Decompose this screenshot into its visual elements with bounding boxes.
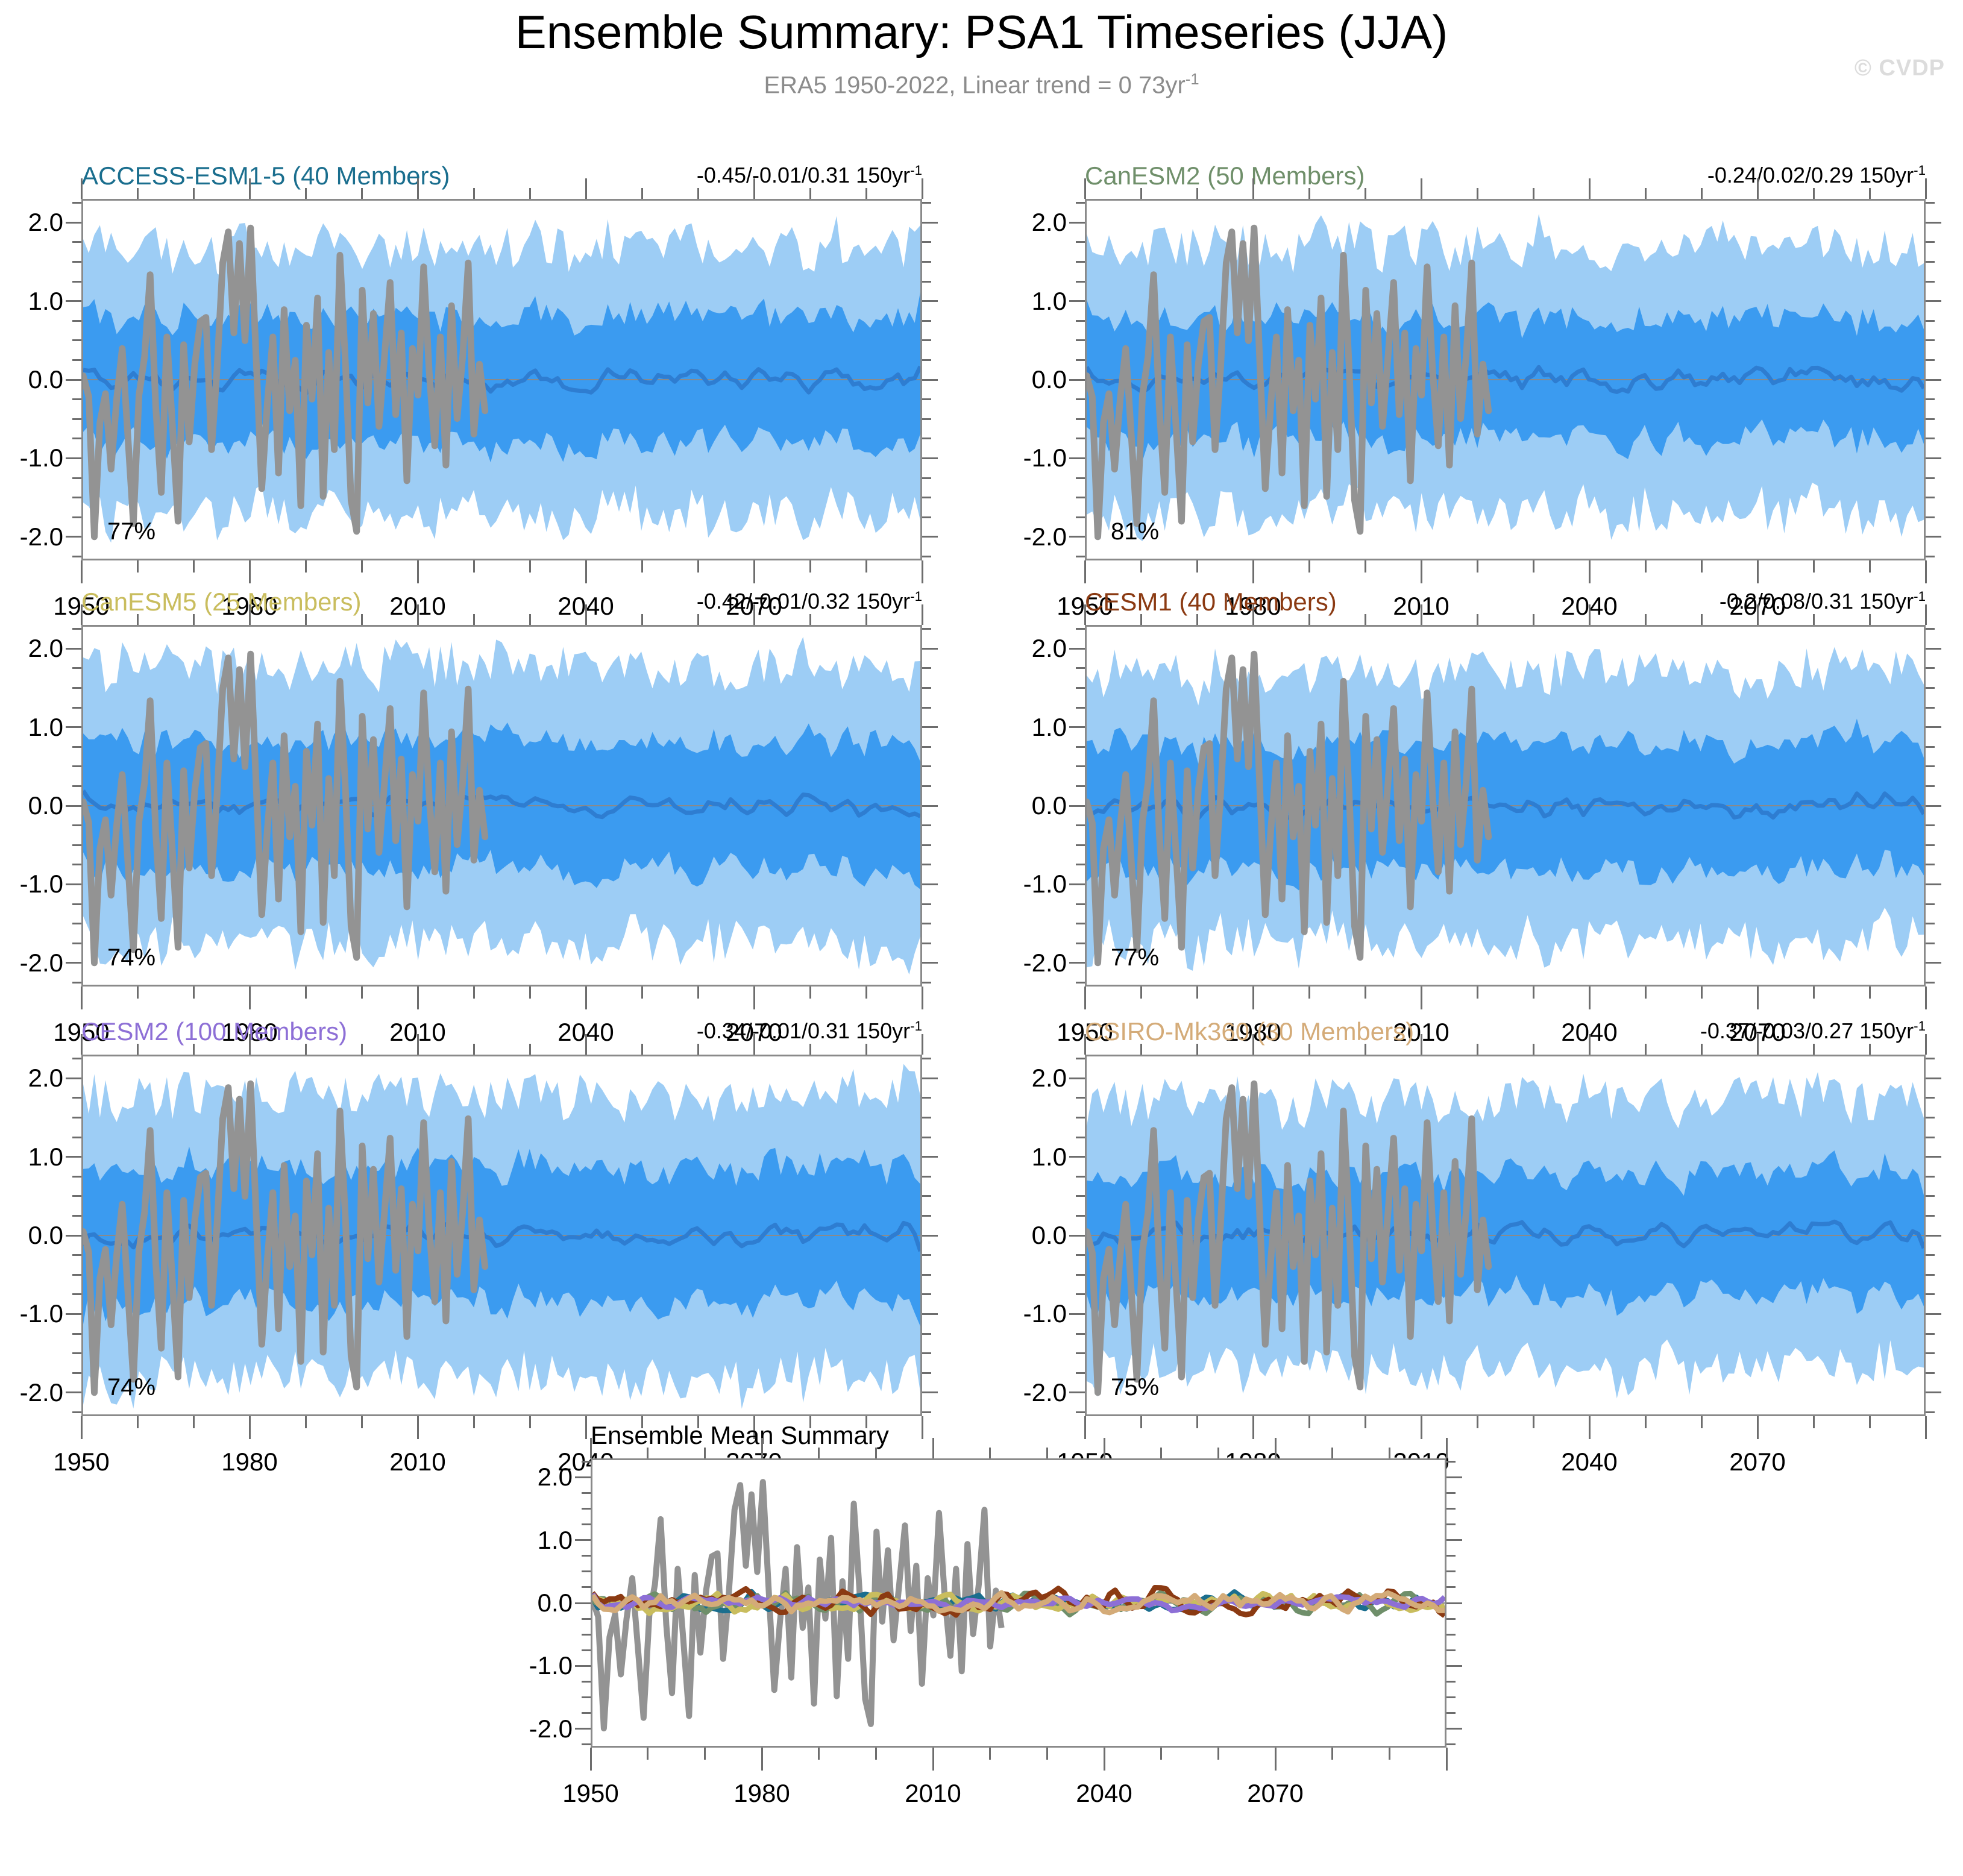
x-tick-top-major [585,604,587,625]
x-axis-label: 2010 [905,1779,961,1808]
x-tick-major [249,560,251,583]
x-tick-major [417,987,419,1009]
y-tick-minor [1076,824,1085,826]
y-tick-major-right [1926,648,1941,650]
y-tick-minor [1076,418,1085,420]
y-tick-minor [72,418,81,420]
x-tick-top-major [1446,1438,1448,1458]
panel-trend-stats-canesm2: -0.24/0.02/0.29 150yr-1 [1707,163,1926,188]
y-tick-major-right [1926,536,1941,538]
y-tick-minor [72,398,81,400]
x-tick-top-minor [809,1044,811,1055]
x-tick-top-major [1925,1034,1927,1055]
y-tick-minor [1076,1274,1085,1276]
y-axis-label: 0.0 [970,1221,1067,1250]
y-tick-minor-right [1446,1570,1456,1572]
axis-decor-access-esm1-5: 2.01.00.0-1.0-2.019501980201020402070 [81,199,922,560]
y-tick-minor-right [1446,1586,1456,1588]
x-tick-major [590,1748,592,1771]
y-tick-minor-right [1926,497,1935,498]
x-tick-major [585,1416,587,1439]
y-tick-major-right [1926,1313,1941,1315]
y-tick-major-right [1446,1665,1462,1667]
y-tick-minor [72,1333,81,1335]
x-tick-minor [1813,560,1815,573]
x-tick-minor [1140,1416,1142,1428]
y-tick-major-right [1446,1539,1462,1541]
x-tick-top-minor [1365,1044,1366,1055]
y-tick-minor [72,1195,81,1197]
y-tick-minor-right [1926,628,1935,630]
y-tick-major-right [1926,379,1941,381]
y-tick-minor [72,1176,81,1178]
y-tick-minor [1076,982,1085,983]
panel-header-canesm5: CanESM5 (25 Members)-0.42/-0.01/0.32 150… [81,588,922,619]
y-tick-major [1069,300,1085,302]
y-tick-major [1069,726,1085,728]
axis-decor-cesm2: 2.01.00.0-1.0-2.019501980201020402070 [81,1055,922,1416]
x-tick-top-minor [305,614,307,625]
panel-cesm1: CESM1 (40 Members)-0.2/0.08/0.31 150yr-1… [1085,588,1926,1021]
x-axis-label: 1980 [221,1448,277,1476]
panel-trend-stats-csiro-mk360: -0.37/-0.03/0.27 150yr-1 [1700,1018,1926,1044]
x-tick-top-minor [305,188,307,199]
x-tick-top-minor [193,1044,195,1055]
x-tick-minor [1160,1748,1162,1760]
y-tick-minor-right [1926,982,1935,983]
y-tick-minor [72,1254,81,1256]
x-tick-major [1084,987,1086,1009]
x-tick-minor [1533,987,1534,999]
y-tick-major-right [1446,1728,1462,1730]
x-tick-top-major [417,604,419,625]
y-axis-label: 0.0 [970,365,1067,394]
x-tick-top-major [922,178,923,199]
y-tick-minor [72,339,81,341]
y-tick-minor [72,438,81,439]
y-tick-major-right [1446,1476,1462,1478]
summary-panel-title: Ensemble Mean Summary [591,1421,889,1450]
y-tick-minor-right [922,1352,931,1354]
y-tick-minor [72,1293,81,1295]
y-tick-minor-right [922,746,931,748]
y-tick-minor [1076,1411,1085,1413]
x-tick-minor [529,987,531,999]
y-tick-minor [72,516,81,518]
x-tick-major [922,987,923,1009]
x-tick-minor [1308,987,1310,999]
y-tick-minor-right [922,707,931,709]
y-tick-minor-right [922,1274,931,1276]
x-tick-minor [1365,987,1366,999]
y-tick-major [1069,1313,1085,1315]
y-tick-major-right [922,1313,938,1315]
x-tick-major [585,987,587,1009]
x-tick-minor [1331,1748,1333,1760]
y-tick-minor [1076,1333,1085,1335]
x-tick-top-major [753,1034,755,1055]
y-tick-minor [1076,398,1085,400]
y-tick-minor [72,261,81,263]
y-tick-minor-right [922,497,931,498]
y-tick-minor [72,785,81,787]
y-tick-minor [582,1634,591,1636]
axis-decor-cesm1: 2.01.00.0-1.0-2.019501980201020402070 [1085,625,1926,987]
panel-trend-stats-access-esm1-5: -0.45/-0.01/0.31 150yr-1 [697,163,922,188]
y-tick-minor-right [922,556,931,557]
x-tick-top-major [585,1034,587,1055]
y-tick-major-right [922,805,938,807]
x-tick-minor [865,987,867,999]
page-subtitle: ERA5 1950-2022, Linear trend = 0 73yr-1 [0,71,1963,99]
y-tick-minor [72,477,81,479]
panel-trend-stats-canesm5: -0.42/-0.01/0.32 150yr-1 [697,589,922,614]
x-tick-top-minor [1533,614,1534,625]
x-tick-minor [1477,560,1478,573]
y-tick-minor-right [1926,320,1935,322]
y-tick-minor-right [1926,765,1935,767]
y-tick-minor-right [922,1195,931,1197]
y-tick-minor-right [1446,1696,1456,1698]
y-tick-minor [72,241,81,243]
x-tick-minor [1217,1748,1219,1760]
y-axis-label: -1.0 [970,870,1067,899]
y-tick-minor [1076,687,1085,689]
y-tick-minor-right [922,824,931,826]
y-tick-major [66,805,81,807]
y-tick-major [66,648,81,650]
y-axis-label: -2.0 [0,949,63,977]
y-tick-minor [1076,1058,1085,1059]
y-tick-minor-right [1926,1176,1935,1178]
obs-within-percent-cesm1: 77% [1111,944,1159,971]
y-tick-minor [1076,864,1085,865]
x-tick-top-minor [1869,1044,1871,1055]
x-axis-label: 2040 [1076,1779,1132,1808]
y-tick-minor-right [922,320,931,322]
y-axis-label: -2.0 [0,522,63,551]
y-tick-major-right [1926,1235,1941,1237]
y-axis-label: -2.0 [970,1378,1067,1407]
x-tick-top-minor [1196,614,1198,625]
x-tick-minor [1645,1416,1647,1428]
y-tick-minor [582,1696,591,1698]
x-axis-label: 2010 [389,1448,445,1476]
y-axis-label: 2.0 [970,1064,1067,1093]
y-axis-label: -2.0 [476,1714,573,1743]
x-tick-major [81,560,83,583]
y-tick-minor [1076,1372,1085,1374]
y-tick-minor-right [1446,1523,1456,1525]
y-tick-minor [1076,746,1085,748]
y-tick-minor-right [1926,1195,1935,1197]
x-tick-minor [361,987,363,999]
figure-root: Ensemble Summary: PSA1 Timeseries (JJA) … [0,0,1963,1876]
x-tick-major [753,560,755,583]
y-tick-major [575,1602,591,1604]
x-tick-minor [193,987,195,999]
x-tick-major [1252,1416,1254,1439]
axis-decor-summary: 2.01.00.0-1.0-2.019501980201020402070 [591,1458,1446,1748]
x-tick-top-major [932,1438,934,1458]
x-tick-minor [1477,987,1478,999]
panel-ensemble-mean-summary: Ensemble Mean Summary2.01.00.0-1.0-2.019… [591,1458,1446,1826]
x-tick-minor [1308,1416,1310,1428]
y-tick-minor [72,1117,81,1118]
x-tick-top-major [590,1438,592,1458]
x-tick-top-minor [1046,1448,1048,1458]
y-tick-minor-right [1446,1743,1456,1745]
y-tick-major-right [1926,300,1941,302]
x-tick-top-minor [875,1448,877,1458]
x-tick-top-minor [1196,188,1198,199]
panel-title-cesm1: CESM1 (40 Members) [1085,588,1337,616]
x-tick-top-major [417,178,419,199]
y-tick-minor [582,1681,591,1683]
x-tick-major [249,1416,251,1439]
x-tick-top-minor [1140,188,1142,199]
obs-within-percent-access-esm1-5: 77% [107,518,155,545]
x-tick-minor [1701,987,1703,999]
panel-csiro-mk360: CSIRO-Mk360 (30 Members)-0.37/-0.03/0.27… [1085,1017,1926,1451]
y-axis-label: 0.0 [0,365,63,394]
y-axis-label: 0.0 [970,791,1067,820]
y-tick-minor [1076,667,1085,669]
x-tick-top-major [81,178,83,199]
y-tick-minor [72,982,81,983]
x-tick-top-major [1589,178,1591,199]
y-tick-minor [1076,943,1085,944]
x-tick-minor [137,560,139,573]
x-tick-top-minor [1701,188,1703,199]
y-tick-minor-right [922,1215,931,1217]
x-tick-minor [989,1748,991,1760]
y-tick-minor-right [1446,1492,1456,1494]
x-tick-minor [305,560,307,573]
panel-title-canesm2: CanESM2 (50 Members) [1085,162,1365,190]
y-tick-minor [582,1492,591,1494]
y-tick-minor [72,1097,81,1099]
y-tick-minor-right [922,516,931,518]
y-tick-major-right [922,536,938,538]
y-tick-minor-right [1926,1274,1935,1276]
y-tick-major [66,222,81,224]
x-tick-major [761,1748,763,1771]
y-tick-minor [72,1372,81,1374]
y-tick-minor [1076,1117,1085,1118]
y-tick-major [66,457,81,459]
x-tick-minor [1140,560,1142,573]
x-axis-label: 1950 [562,1779,618,1808]
y-tick-major-right [1926,1156,1941,1158]
y-tick-minor-right [1446,1634,1456,1636]
y-tick-major [66,1235,81,1237]
y-tick-major [1069,379,1085,381]
y-tick-minor-right [1926,824,1935,826]
x-tick-top-major [761,1438,763,1458]
panel-header-csiro-mk360: CSIRO-Mk360 (30 Members)-0.37/-0.03/0.27… [1085,1017,1926,1049]
x-tick-top-minor [865,1044,867,1055]
x-tick-top-minor [1217,1448,1219,1458]
y-tick-minor-right [922,281,931,283]
y-tick-minor [1076,923,1085,924]
x-tick-top-major [1275,1438,1277,1458]
y-tick-minor-right [922,943,931,944]
y-tick-minor-right [1926,1058,1935,1059]
y-axis-label: 1.0 [0,1143,63,1172]
x-tick-top-major [585,178,587,199]
y-axis-label: -2.0 [970,949,1067,977]
y-tick-minor-right [1926,923,1935,924]
y-tick-minor-right [1926,707,1935,709]
y-tick-minor [1076,261,1085,263]
y-tick-minor-right [922,1058,931,1059]
y-tick-minor-right [1926,687,1935,689]
y-tick-minor-right [1926,556,1935,557]
y-tick-minor-right [922,687,931,689]
x-tick-major [81,987,83,1009]
panel-title-csiro-mk360: CSIRO-Mk360 (30 Members) [1085,1017,1414,1046]
y-tick-minor [1076,339,1085,341]
y-tick-minor [72,1352,81,1354]
x-tick-minor [1196,987,1198,999]
y-tick-minor [1076,438,1085,439]
y-tick-major-right [922,883,938,885]
y-tick-major-right [922,648,938,650]
y-tick-minor [72,202,81,204]
y-tick-major [1069,648,1085,650]
x-tick-top-minor [1869,188,1871,199]
x-tick-top-major [922,604,923,625]
x-tick-major [417,560,419,583]
x-tick-major [1275,1748,1277,1771]
x-tick-minor [1533,1416,1534,1428]
y-tick-minor [72,746,81,748]
y-tick-major-right [1446,1602,1462,1604]
y-tick-major-right [1926,883,1941,885]
x-tick-minor [473,1416,475,1428]
x-tick-minor [1869,1416,1871,1428]
x-tick-minor [305,987,307,999]
y-axis-label: 1.0 [0,287,63,316]
x-tick-minor [1140,987,1142,999]
x-tick-top-minor [137,188,139,199]
x-tick-top-minor [137,1044,139,1055]
x-tick-minor [641,987,643,999]
x-tick-top-major [1104,1438,1105,1458]
y-tick-minor-right [922,477,931,479]
y-tick-major [66,1391,81,1393]
y-tick-minor-right [1926,667,1935,669]
x-tick-top-minor [1645,1044,1647,1055]
x-tick-minor [1308,560,1310,573]
x-tick-minor [1196,560,1198,573]
y-tick-minor-right [922,667,931,669]
y-tick-minor-right [1446,1649,1456,1651]
x-tick-major [1589,1416,1591,1439]
y-tick-minor [1076,359,1085,361]
y-tick-minor [72,824,81,826]
y-tick-minor [72,497,81,498]
x-tick-top-minor [1645,188,1647,199]
x-tick-top-minor [1813,188,1815,199]
y-tick-major-right [922,1235,938,1237]
y-tick-major-right [1926,805,1941,807]
y-tick-major [66,379,81,381]
y-tick-minor-right [922,1411,931,1413]
x-tick-top-minor [697,614,699,625]
panel-canesm2: CanESM2 (50 Members)-0.24/0.02/0.29 150y… [1085,162,1926,595]
y-tick-major-right [922,300,938,302]
x-tick-major [922,1416,923,1439]
y-tick-minor-right [1926,1254,1935,1256]
page-title: Ensemble Summary: PSA1 Timeseries (JJA) [0,5,1963,60]
x-tick-top-minor [1813,1044,1815,1055]
x-tick-top-minor [1365,614,1366,625]
x-tick-minor [473,987,475,999]
x-tick-top-minor [1140,614,1142,625]
x-tick-top-minor [305,1044,307,1055]
y-tick-major [66,1078,81,1079]
x-tick-top-major [1925,178,1927,199]
x-tick-top-minor [989,1448,991,1458]
y-tick-minor [72,923,81,924]
panel-header-canesm2: CanESM2 (50 Members)-0.24/0.02/0.29 150y… [1085,162,1926,193]
y-tick-major-right [922,379,938,381]
x-tick-minor [704,1748,706,1760]
y-tick-minor-right [1926,1372,1935,1374]
x-tick-top-major [1589,1034,1591,1055]
y-tick-minor-right [922,628,931,630]
x-tick-minor [809,987,811,999]
x-tick-top-minor [1140,1044,1142,1055]
y-tick-major [66,883,81,885]
y-tick-minor-right [922,1117,931,1118]
y-tick-minor [72,903,81,905]
x-tick-top-minor [865,188,867,199]
y-tick-minor-right [1926,1411,1935,1413]
y-tick-minor-right [1926,903,1935,905]
y-tick-minor [72,707,81,709]
x-tick-top-major [417,1034,419,1055]
y-tick-minor-right [922,1293,931,1295]
y-tick-minor [582,1649,591,1651]
x-tick-top-minor [1389,1448,1390,1458]
y-tick-minor [72,765,81,767]
x-tick-top-minor [1477,1044,1478,1055]
x-tick-minor [137,987,139,999]
x-tick-minor [1701,560,1703,573]
x-tick-minor [137,1416,139,1428]
x-tick-top-minor [1701,1044,1703,1055]
panel-access-esm1-5: ACCESS-ESM1-5 (40 Members)-0.45/-0.01/0.… [81,162,922,595]
x-tick-top-minor [1365,188,1366,199]
x-tick-top-minor [1533,1044,1534,1055]
x-tick-top-major [1757,1034,1759,1055]
y-tick-major-right [922,1391,938,1393]
panel-trend-stats-cesm2: -0.34/-0.01/0.31 150yr-1 [697,1018,922,1044]
y-tick-minor-right [922,1137,931,1138]
y-tick-minor-right [1926,1333,1935,1335]
y-tick-minor-right [922,241,931,243]
x-tick-minor [1645,987,1647,999]
y-tick-minor [1076,1137,1085,1138]
y-tick-minor-right [1926,398,1935,400]
y-tick-minor [72,687,81,689]
x-tick-major [81,1416,83,1439]
x-tick-top-minor [1160,1448,1162,1458]
y-tick-minor-right [1926,1293,1935,1295]
